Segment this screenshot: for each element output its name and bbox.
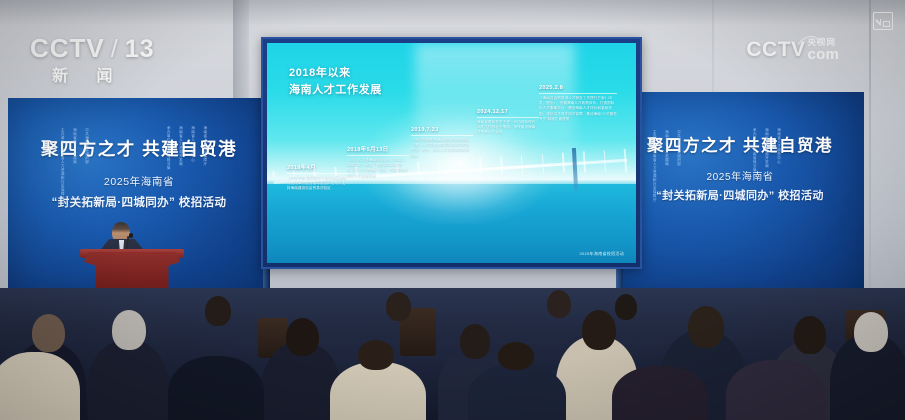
banner-left-subtitle-1: 2025年海南省: [8, 174, 270, 189]
audience-head: [854, 312, 888, 352]
timeline-item: 2025.2.8 《海南自由贸易港人才服务工作提升方案》印发，提出：· 完善海南…: [539, 85, 617, 123]
audience-head: [460, 324, 490, 359]
audience-head: [286, 318, 319, 356]
cctv-channel-logo: CCTV / 13: [30, 33, 155, 64]
audience-head: [498, 342, 534, 370]
cctv-com-watermark: CCTV 央视网 com: [746, 36, 839, 62]
ceiling-shadow: [0, 0, 905, 26]
audience-head: [688, 306, 724, 348]
timeline-date: 2019.7.23: [411, 127, 473, 136]
banner-right-credits-a: 主办单位：海南省人力资源和社会保障厅 海南省委人才发展局 中共海南省委组织部: [652, 130, 682, 202]
credit-line: 承办单位：海南省就业局: [166, 126, 171, 170]
slide-title-line-2: 海南人才工作发展: [289, 82, 382, 99]
credit-line: 海南省人才服务中心: [776, 128, 781, 172]
timeline-date: 2018年5月13日: [347, 145, 409, 156]
banner-right-credits-b: 承办单位：海南省就业局 海南省人力资源开发局 海南省人才服务中心: [752, 128, 782, 172]
credit-line: 主办单位：海南省人力资源和社会保障厅: [60, 128, 65, 200]
audience-member: [726, 360, 826, 420]
audience-member: [330, 362, 426, 420]
credit-line: 中共海南省委组织部: [676, 130, 681, 202]
timeline-body: 《海南自由贸易港人才服务工作提升方案》印发，提出：· 完善海南人才政策体系，打造…: [539, 96, 617, 123]
timeline-body: 《百万人才进海南行动计划（2018—2025年）》印发，提出到2025年实现“百…: [347, 158, 409, 180]
timeline-body: 《中共中央 国务院关于支持海南全面深化改革开放的指导意见》发布，支持海南建设自由…: [287, 176, 349, 192]
cctv-channel-name: 新 闻: [52, 62, 124, 86]
broadcast-frame: 聚四方之才 共建自贸港 2025年海南省 “封关拓新局·四城同办” 校招活动 主…: [0, 0, 905, 420]
cctv-slash: /: [111, 35, 119, 64]
audience-member: [468, 364, 566, 420]
banner-left-headline: 聚四方之才 共建自贸港: [8, 136, 270, 161]
audience-area: [0, 288, 905, 420]
cctv-wordmark: CCTV: [30, 33, 105, 64]
audience-member: [612, 366, 708, 420]
slide-title-line-1: 2018年以来: [289, 65, 382, 82]
timeline-date: 2024.12.17: [477, 109, 539, 118]
timeline-item: 2018年4月 《中共中央 国务院关于支持海南全面深化改革开放的指导意见》发布，…: [287, 163, 349, 192]
audience-head: [794, 316, 826, 354]
timeline-item: 2024.12.17 海南省委印发关于进一步加强新时代人才工作的若干措施，加快建…: [477, 109, 539, 136]
credit-line: 海南省委人才发展局: [72, 128, 77, 200]
audience-head: [386, 292, 411, 321]
credit-line: 中共海南省委组织部: [84, 128, 89, 200]
credit-line: 主办单位：海南省人力资源和社会保障厅: [652, 130, 657, 202]
credit-line: 海南省人才服务中心: [190, 126, 195, 170]
watermark-cctv-text: CCTV: [746, 38, 805, 62]
banner-left-subtitle-2: “封关拓新局·四城同办” 校招活动: [8, 194, 270, 210]
led-screen-bezel: 2018年以来 海南人才工作发展 2018年4月 《中共中央 国务院关于支持海南…: [261, 37, 642, 269]
audience-head: [547, 290, 571, 318]
timeline-body: 海南省委印发关于进一步加强新时代人才工作的若干措施，加快建设海南自贸港人才高地: [477, 120, 539, 136]
credit-line: 海南省委人才发展局: [664, 130, 669, 202]
audience-head: [358, 340, 394, 370]
cctv-channel-number: 13: [125, 35, 155, 64]
banner-left-credits-b: 承办单位：海南省就业局 海南省人力资源开发局 海南省人才服务中心 海南省人事劳动…: [166, 126, 208, 170]
banner-left-credits-a: 主办单位：海南省人力资源和社会保障厅 海南省委人才发展局 中共海南省委组织部: [60, 128, 90, 200]
audience-member: [88, 340, 168, 420]
timeline-date: 2018年4月: [287, 163, 349, 174]
audience-head: [112, 310, 146, 350]
led-screen-content: 2018年以来 海南人才工作发展 2018年4月 《中共中央 国务院关于支持海南…: [267, 43, 636, 263]
audience-head: [205, 296, 231, 326]
picture-in-picture-icon[interactable]: [873, 12, 893, 30]
credit-line: 承办单位：海南省就业局: [752, 128, 757, 172]
credit-line: 海南省人力资源开发局: [764, 128, 769, 172]
microphone-icon: [129, 233, 133, 238]
audience-head: [582, 310, 616, 350]
pip-inner-frame: [883, 21, 890, 27]
audience-member: [168, 356, 264, 420]
audience-head: [32, 314, 65, 352]
credit-line: 海南省人事劳动保障厅: [203, 126, 208, 170]
wall-seam-right: [869, 0, 871, 300]
audience-head: [615, 294, 637, 320]
slide-footer: 2025年海南省校招活动: [580, 251, 625, 257]
timeline-item: 2019.7.23 《关于加快推进海南自由贸易试验区（港）人才发展体制机制改革的…: [411, 127, 473, 159]
slide-title: 2018年以来 海南人才工作发展: [289, 65, 382, 98]
timeline-date: 2025.2.8: [539, 85, 617, 94]
credit-line: 海南省人力资源开发局: [178, 126, 183, 170]
timeline-item: 2018年5月13日 《百万人才进海南行动计划（2018—2025年）》印发，提…: [347, 145, 409, 179]
timeline-body: 《关于加快推进海南自由贸易试验区（港）人才发展体制机制改革的实施意见》出台，深化…: [411, 138, 473, 160]
